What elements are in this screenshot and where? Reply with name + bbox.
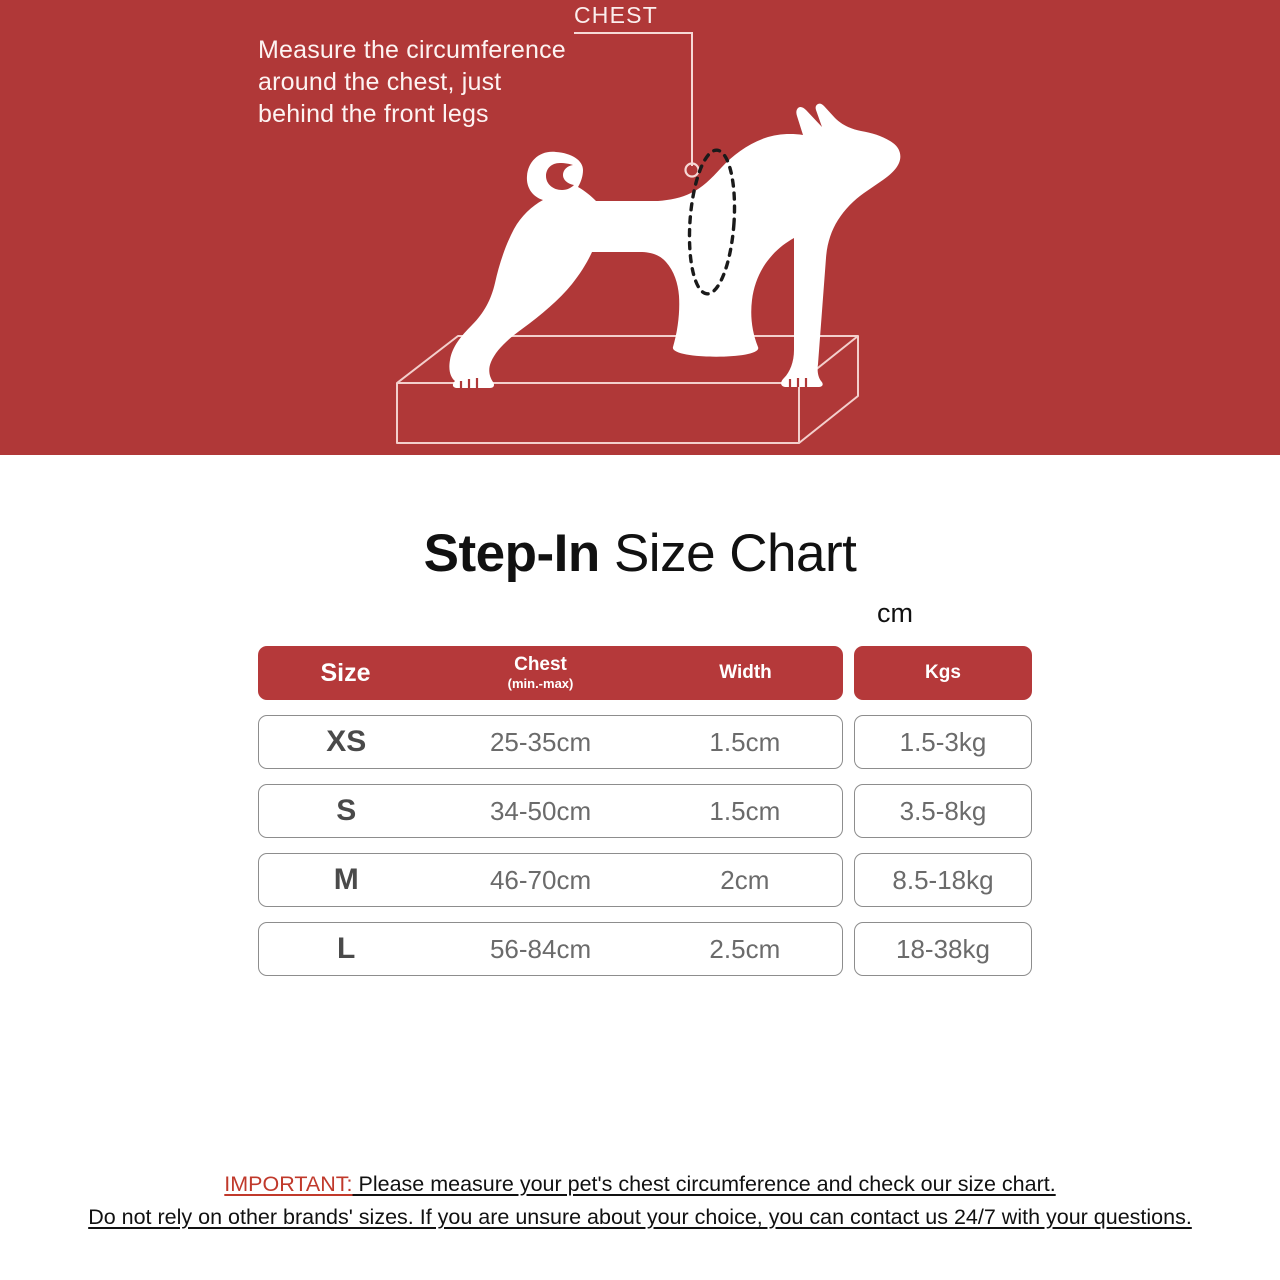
table-row[interactable]: XS 25-35cm 1.5cm 1.5-3kg: [258, 715, 1032, 769]
cell-width: 1.5cm: [648, 716, 842, 768]
hero-banner: CHEST Measure the circumference around t…: [0, 0, 1280, 455]
footer-note: IMPORTANT: Please measure your pet's che…: [0, 1168, 1280, 1234]
page-title-regular: Size Chart: [600, 524, 857, 583]
chest-callout-label: CHEST: [574, 2, 658, 29]
unit-label: cm: [0, 598, 1280, 629]
page-title: Step-In Size Chart: [0, 523, 1280, 585]
table-row-main-block: L 56-84cm 2.5cm: [258, 922, 843, 976]
cell-width: 2.5cm: [648, 923, 842, 975]
cell-width: 1.5cm: [648, 785, 842, 837]
cell-kgs: 8.5-18kg: [854, 853, 1032, 907]
table-header-row: Size Chest (min.-max) Width Kgs: [258, 646, 1032, 700]
table-row-main-block: S 34-50cm 1.5cm: [258, 784, 843, 838]
table-row-main-block: M 46-70cm 2cm: [258, 853, 843, 907]
cell-chest: 56-84cm: [433, 923, 647, 975]
table-header-main-block: Size Chest (min.-max) Width: [258, 646, 843, 700]
cell-kgs: 18-38kg: [854, 922, 1032, 976]
footer-line-1: Please measure your pet's chest circumfe…: [353, 1172, 1056, 1196]
page-title-bold: Step-In: [424, 524, 600, 583]
table-row-main-block: XS 25-35cm 1.5cm: [258, 715, 843, 769]
size-chart-table: Size Chest (min.-max) Width Kgs XS 25-35…: [258, 646, 1032, 976]
cell-size: L: [259, 923, 433, 975]
measure-instruction-text: Measure the circumference around the che…: [258, 34, 678, 130]
cell-size: M: [259, 854, 433, 906]
table-row[interactable]: L 56-84cm 2.5cm 18-38kg: [258, 922, 1032, 976]
column-header-kgs: Kgs: [854, 646, 1032, 700]
cell-chest: 34-50cm: [433, 785, 647, 837]
column-header-chest-sublabel: (min.-max): [508, 677, 574, 691]
dog-silhouette: [449, 104, 900, 388]
footer-important-label: IMPORTANT:: [224, 1172, 352, 1196]
cell-size: S: [259, 785, 433, 837]
table-row[interactable]: S 34-50cm 1.5cm 3.5-8kg: [258, 784, 1032, 838]
footer-line-2: Do not rely on other brands' sizes. If y…: [0, 1201, 1280, 1234]
page-title-wrapper: Step-In Size Chart: [0, 523, 1280, 585]
column-header-size: Size: [258, 646, 433, 700]
column-header-chest-label: Chest: [514, 655, 567, 675]
cell-size: XS: [259, 716, 433, 768]
cell-kgs: 1.5-3kg: [854, 715, 1032, 769]
cell-chest: 25-35cm: [433, 716, 647, 768]
cell-width: 2cm: [648, 854, 842, 906]
column-header-width: Width: [648, 646, 843, 700]
column-header-chest: Chest (min.-max): [433, 646, 648, 700]
cell-chest: 46-70cm: [433, 854, 647, 906]
table-row[interactable]: M 46-70cm 2cm 8.5-18kg: [258, 853, 1032, 907]
cell-kgs: 3.5-8kg: [854, 784, 1032, 838]
